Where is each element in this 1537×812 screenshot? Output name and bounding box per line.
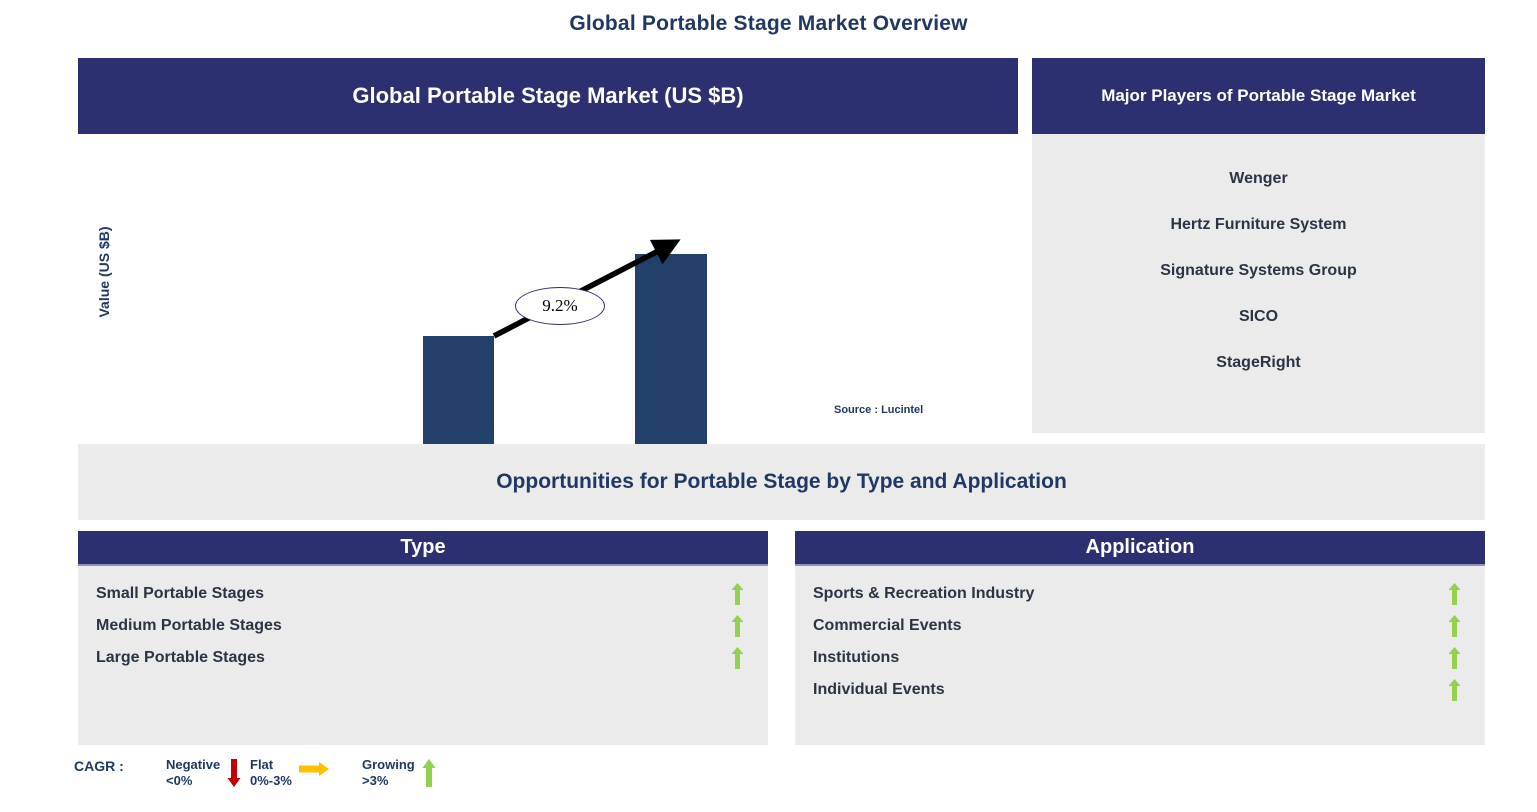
legend-flat-text: Flat 0%-3% xyxy=(250,757,292,789)
cagr-legend: CAGR : Negative <0% Flat 0%-3% Growing >… xyxy=(70,754,550,804)
arrow-up-green-icon xyxy=(1448,615,1461,637)
players-list: Wenger Hertz Furniture System Signature … xyxy=(1032,134,1485,433)
arrow-up-green-icon xyxy=(731,583,744,605)
legend-flat-range: 0%-3% xyxy=(250,773,292,789)
legend-entry-negative: Negative <0% xyxy=(166,757,241,792)
type-item-label: Medium Portable Stages xyxy=(96,617,282,635)
application-item-label: Institutions xyxy=(813,649,899,667)
list-item: Small Portable Stages xyxy=(96,578,750,610)
list-item: StageRight xyxy=(1032,340,1485,386)
source-note: Source : Lucintel xyxy=(834,404,923,416)
arrow-right-orange-icon xyxy=(299,759,329,784)
growth-arrow-icon xyxy=(78,134,1018,433)
chart-panel-header: Global Portable Stage Market (US $B) xyxy=(78,58,1018,134)
legend-growing-text: Growing >3% xyxy=(362,757,415,789)
type-panel: Type Small Portable Stages Medium Portab… xyxy=(78,531,768,743)
application-item-label: Individual Events xyxy=(813,681,945,699)
type-item-label: Large Portable Stages xyxy=(96,649,265,667)
application-list: Sports & Recreation Industry Commercial … xyxy=(795,566,1485,745)
opportunities-banner: Opportunities for Portable Stage by Type… xyxy=(78,444,1485,520)
list-item: Wenger xyxy=(1032,156,1485,202)
list-item: Sports & Recreation Industry xyxy=(813,578,1467,610)
list-item: Individual Events xyxy=(813,674,1467,706)
legend-negative-range: <0% xyxy=(166,773,220,789)
list-item: Institutions xyxy=(813,642,1467,674)
list-item: Large Portable Stages xyxy=(96,642,750,674)
type-list: Small Portable Stages Medium Portable St… xyxy=(78,566,768,745)
arrow-up-green-icon xyxy=(731,615,744,637)
arrow-up-green-icon xyxy=(1448,647,1461,669)
list-item: SICO xyxy=(1032,294,1485,340)
legend-entry-flat: Flat 0%-3% xyxy=(250,757,329,789)
list-item: Medium Portable Stages xyxy=(96,610,750,642)
arrow-up-green-icon xyxy=(1448,679,1461,701)
application-item-label: Commercial Events xyxy=(813,617,962,635)
players-panel-header: Major Players of Portable Stage Market xyxy=(1032,58,1485,134)
legend-negative-text: Negative <0% xyxy=(166,757,220,789)
application-panel: Application Sports & Recreation Industry… xyxy=(795,531,1485,743)
type-item-label: Small Portable Stages xyxy=(96,585,264,603)
cagr-callout-badge: 9.2% xyxy=(515,287,605,325)
legend-entry-growing: Growing >3% xyxy=(362,757,436,792)
arrow-up-green-icon xyxy=(731,647,744,669)
market-chart-panel: Global Portable Stage Market (US $B) Val… xyxy=(78,58,1018,433)
list-item: Signature Systems Group xyxy=(1032,248,1485,294)
legend-flat-label: Flat xyxy=(250,757,273,772)
type-panel-header: Type xyxy=(78,531,768,566)
arrow-up-green-icon xyxy=(422,759,436,792)
legend-growing-range: >3% xyxy=(362,773,415,789)
list-item: Commercial Events xyxy=(813,610,1467,642)
cagr-legend-title: CAGR : xyxy=(74,758,124,774)
application-panel-header: Application xyxy=(795,531,1485,566)
chart-plot-area: Value (US $B) 2024 2031 9.2% Source : Lu… xyxy=(78,134,1018,433)
arrow-down-red-icon xyxy=(227,759,241,792)
list-item: Hertz Furniture System xyxy=(1032,202,1485,248)
legend-growing-label: Growing xyxy=(362,757,415,772)
page-title: Global Portable Stage Market Overview xyxy=(0,12,1537,36)
arrow-up-green-icon xyxy=(1448,583,1461,605)
legend-negative-label: Negative xyxy=(166,757,220,772)
application-item-label: Sports & Recreation Industry xyxy=(813,585,1034,603)
major-players-panel: Major Players of Portable Stage Market W… xyxy=(1032,58,1485,433)
